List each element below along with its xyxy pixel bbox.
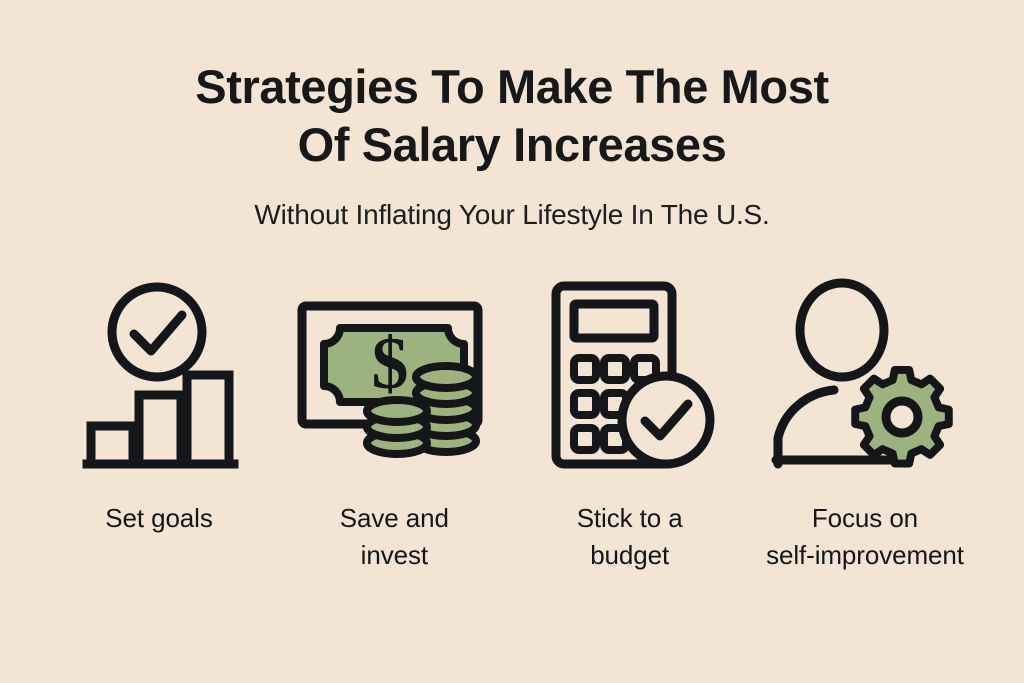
page-subtitle: Without Inflating Your Lifestyle In The … <box>0 174 1024 232</box>
strategy-label: Set goals <box>105 500 213 537</box>
strategy-columns: Set goals $ <box>0 278 1024 574</box>
strategy-item-set-goals: Set goals <box>52 278 266 537</box>
strategy-item-focus-on-self-improvement: Focus on self-improvement <box>758 278 972 574</box>
checkmark-circle-bar-chart-icon <box>52 278 266 474</box>
strategy-label: Focus on self-improvement <box>766 500 964 574</box>
header: Strategies To Make The Most Of Salary In… <box>0 58 1024 232</box>
svg-text:$: $ <box>372 323 409 405</box>
strategy-item-save-and-invest: $ Save a <box>287 278 501 574</box>
page-title: Strategies To Make The Most Of Salary In… <box>0 58 1024 174</box>
infographic-poster: Strategies To Make The Most Of Salary In… <box>0 0 1024 683</box>
banknote-coins-icon: $ <box>287 278 501 474</box>
strategy-label: Stick to a budget <box>577 500 683 574</box>
calculator-checkmark-icon <box>523 278 737 474</box>
strategy-item-stick-to-a-budget: Stick to a budget <box>523 278 737 574</box>
person-gear-icon <box>758 278 972 474</box>
strategy-label: Save and invest <box>340 500 449 574</box>
